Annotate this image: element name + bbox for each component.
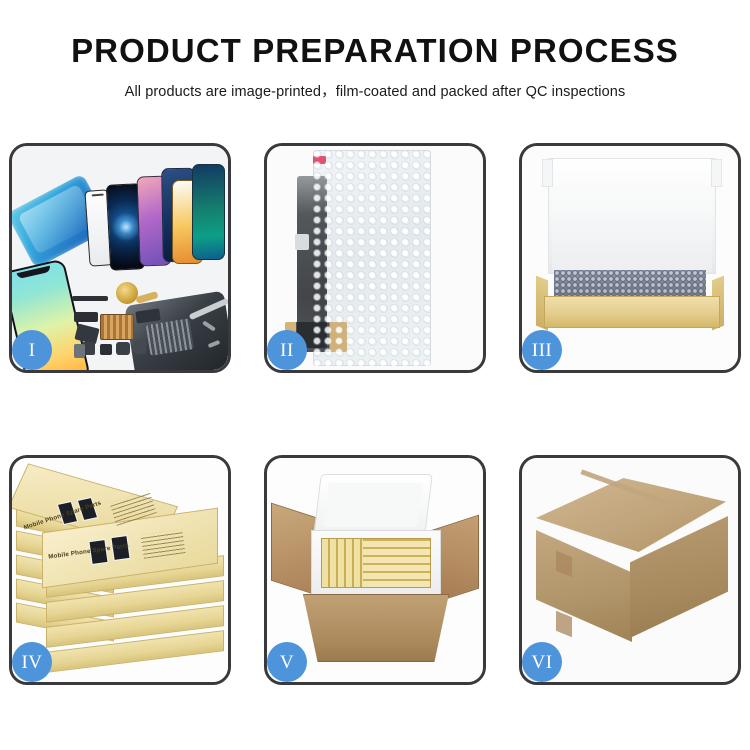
teal-phone xyxy=(192,164,225,260)
step-badge-3: III xyxy=(522,330,562,370)
header: PRODUCT PREPARATION PROCESS All products… xyxy=(0,32,750,101)
part-speaker-coin xyxy=(116,282,138,304)
part-small-3 xyxy=(116,342,130,355)
box-inner-wall xyxy=(552,194,712,272)
step-card-1: I xyxy=(9,143,231,373)
part-small-2 xyxy=(100,344,112,355)
product-preparation-infographic: PRODUCT PREPARATION PROCESS All products… xyxy=(0,0,750,750)
carton-front-panel xyxy=(303,594,449,662)
step-badge-6: VI xyxy=(522,642,562,682)
page-subtitle: All products are image-printed，film-coat… xyxy=(0,80,750,101)
packed-yellow-boxes xyxy=(321,538,431,588)
step-badge-4: IV xyxy=(12,642,52,682)
step-card-2: II xyxy=(264,143,486,373)
step-card-5: V xyxy=(264,455,486,685)
part-board xyxy=(100,314,134,340)
step-card-4: Mobile Phone Spare Parts Mobile Phone Sp… xyxy=(9,455,231,685)
steps-grid: I II III xyxy=(9,143,742,739)
kraft-box-front xyxy=(544,296,720,328)
foam-box-lid xyxy=(313,474,433,536)
step-card-3: III xyxy=(519,143,741,373)
step-badge-1: I xyxy=(12,330,52,370)
pink-qc-label xyxy=(313,156,326,164)
step-badge-2: II xyxy=(267,330,307,370)
step-badge-5: V xyxy=(267,642,307,682)
part-strip xyxy=(72,296,108,301)
page-title: PRODUCT PREPARATION PROCESS xyxy=(0,32,750,70)
grey-foam-padding xyxy=(554,270,706,298)
part-flex-cable-1 xyxy=(74,312,98,322)
part-small-4 xyxy=(134,340,146,354)
step-card-6: VI xyxy=(519,455,741,685)
part-camera-module xyxy=(74,344,85,358)
